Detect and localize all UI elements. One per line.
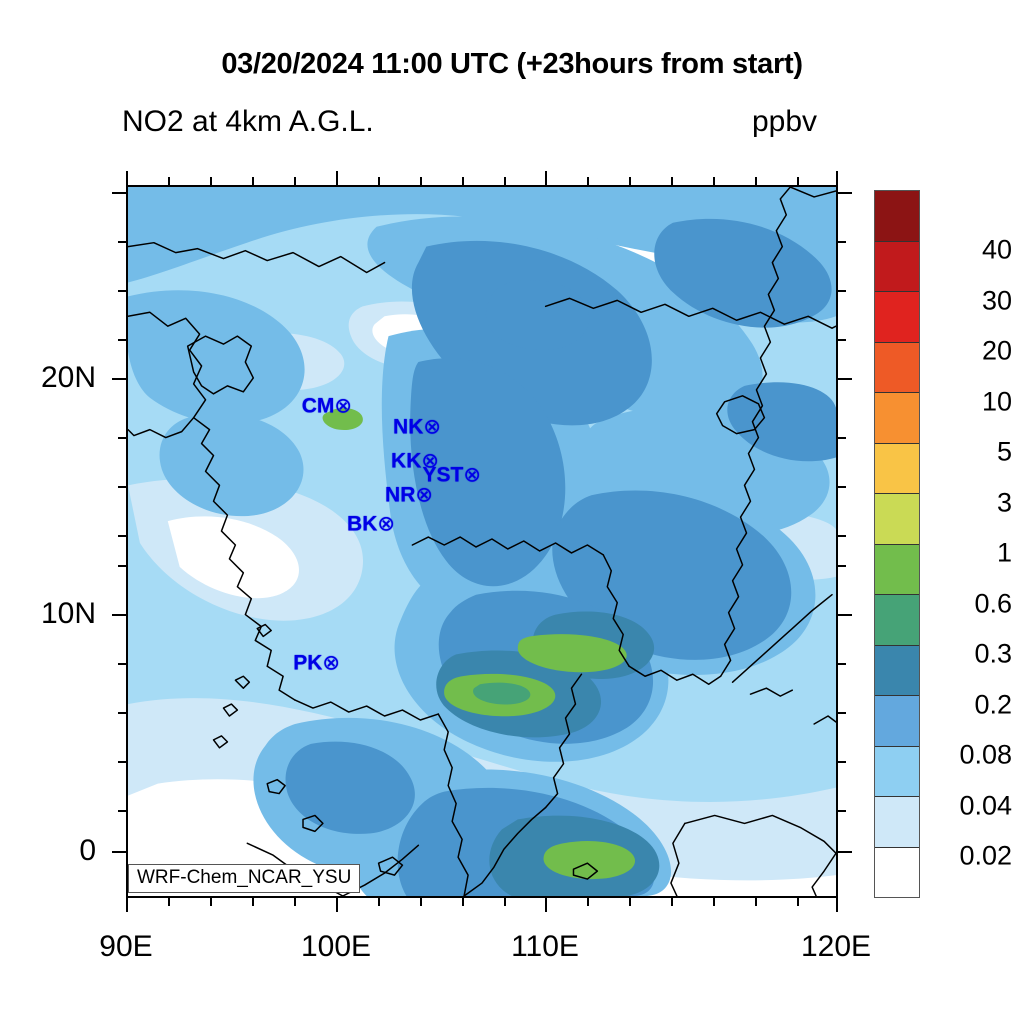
x-tick-label-110E: 110E bbox=[511, 930, 579, 964]
colorbar-band-13 bbox=[875, 191, 919, 242]
colorbar bbox=[874, 190, 920, 898]
units-label: ppbv bbox=[752, 105, 817, 139]
colorbar-band-2 bbox=[875, 747, 919, 798]
colorbar-label-40: 40 bbox=[982, 235, 1012, 266]
station-marker-pk[interactable]: PK⊗ bbox=[293, 651, 340, 676]
model-watermark: WRF-Chem_NCAR_YSU bbox=[128, 864, 360, 893]
station-label-cm: CM bbox=[302, 395, 335, 418]
station-label-bk: BK bbox=[347, 513, 377, 536]
colorbar-band-6 bbox=[875, 545, 919, 596]
page-title: 03/20/2024 11:00 UTC (+23hours from star… bbox=[0, 48, 1024, 81]
colorbar-band-7 bbox=[875, 494, 919, 545]
colorbar-band-1 bbox=[875, 797, 919, 848]
map-plot-area bbox=[126, 185, 838, 898]
colorbar-label-10: 10 bbox=[982, 387, 1012, 418]
y-tick-label-20N: 20N bbox=[0, 361, 96, 395]
colorbar-band-9 bbox=[875, 393, 919, 444]
station-symbol-cm: ⊗ bbox=[334, 395, 352, 418]
colorbar-band-8 bbox=[875, 444, 919, 495]
station-label-kk: KK bbox=[391, 450, 421, 473]
colorbar-label-0.04: 0.04 bbox=[959, 791, 1012, 822]
colorbar-label-0.08: 0.08 bbox=[959, 740, 1012, 771]
colorbar-label-0.3: 0.3 bbox=[974, 639, 1012, 670]
station-marker-bk[interactable]: BK⊗ bbox=[347, 512, 395, 537]
station-symbol-bk: ⊗ bbox=[377, 513, 395, 536]
colorbar-label-20: 20 bbox=[982, 336, 1012, 367]
station-symbol-yst: ⊗ bbox=[463, 464, 481, 487]
colorbar-band-5 bbox=[875, 595, 919, 646]
colorbar-label-0.6: 0.6 bbox=[974, 589, 1012, 620]
station-label-pk: PK bbox=[293, 652, 322, 675]
y-tick-label-0: 0 bbox=[0, 834, 96, 868]
colorbar-label-30: 30 bbox=[982, 286, 1012, 317]
station-marker-cm[interactable]: CM⊗ bbox=[302, 394, 352, 419]
colorbar-band-12 bbox=[875, 242, 919, 293]
no2-contour-field bbox=[128, 187, 836, 896]
station-label-nk: NK bbox=[393, 416, 423, 439]
y-tick-label-10N: 10N bbox=[0, 597, 96, 631]
figure-root: 03/20/2024 11:00 UTC (+23hours from star… bbox=[0, 0, 1024, 1024]
x-tick-label-90E: 90E bbox=[99, 930, 152, 964]
colorbar-band-3 bbox=[875, 696, 919, 747]
colorbar-band-11 bbox=[875, 292, 919, 343]
colorbar-band-4 bbox=[875, 646, 919, 697]
station-marker-nk[interactable]: NK⊗ bbox=[393, 415, 441, 440]
colorbar-label-3: 3 bbox=[997, 488, 1012, 519]
colorbar-label-0.2: 0.2 bbox=[974, 690, 1012, 721]
station-symbol-nr: ⊗ bbox=[415, 484, 433, 507]
colorbar-band-0 bbox=[875, 848, 919, 898]
station-symbol-nk: ⊗ bbox=[423, 416, 441, 439]
field-title: NO2 at 4km A.G.L. bbox=[122, 105, 374, 139]
colorbar-label-0.02: 0.02 bbox=[959, 841, 1012, 872]
colorbar-tick-labels: 40 30 20 10 5 3 1 0.6 0.3 0.2 0.08 0.04 … bbox=[920, 190, 1024, 898]
x-tick-label-120E: 120E bbox=[801, 930, 871, 964]
x-tick-label-100E: 100E bbox=[301, 930, 371, 964]
station-label-nr: NR bbox=[385, 484, 415, 507]
colorbar-band-10 bbox=[875, 343, 919, 394]
colorbar-label-1: 1 bbox=[997, 538, 1012, 569]
station-symbol-pk: ⊗ bbox=[322, 652, 340, 675]
station-marker-nr[interactable]: NR⊗ bbox=[385, 483, 433, 508]
colorbar-label-5: 5 bbox=[997, 437, 1012, 468]
